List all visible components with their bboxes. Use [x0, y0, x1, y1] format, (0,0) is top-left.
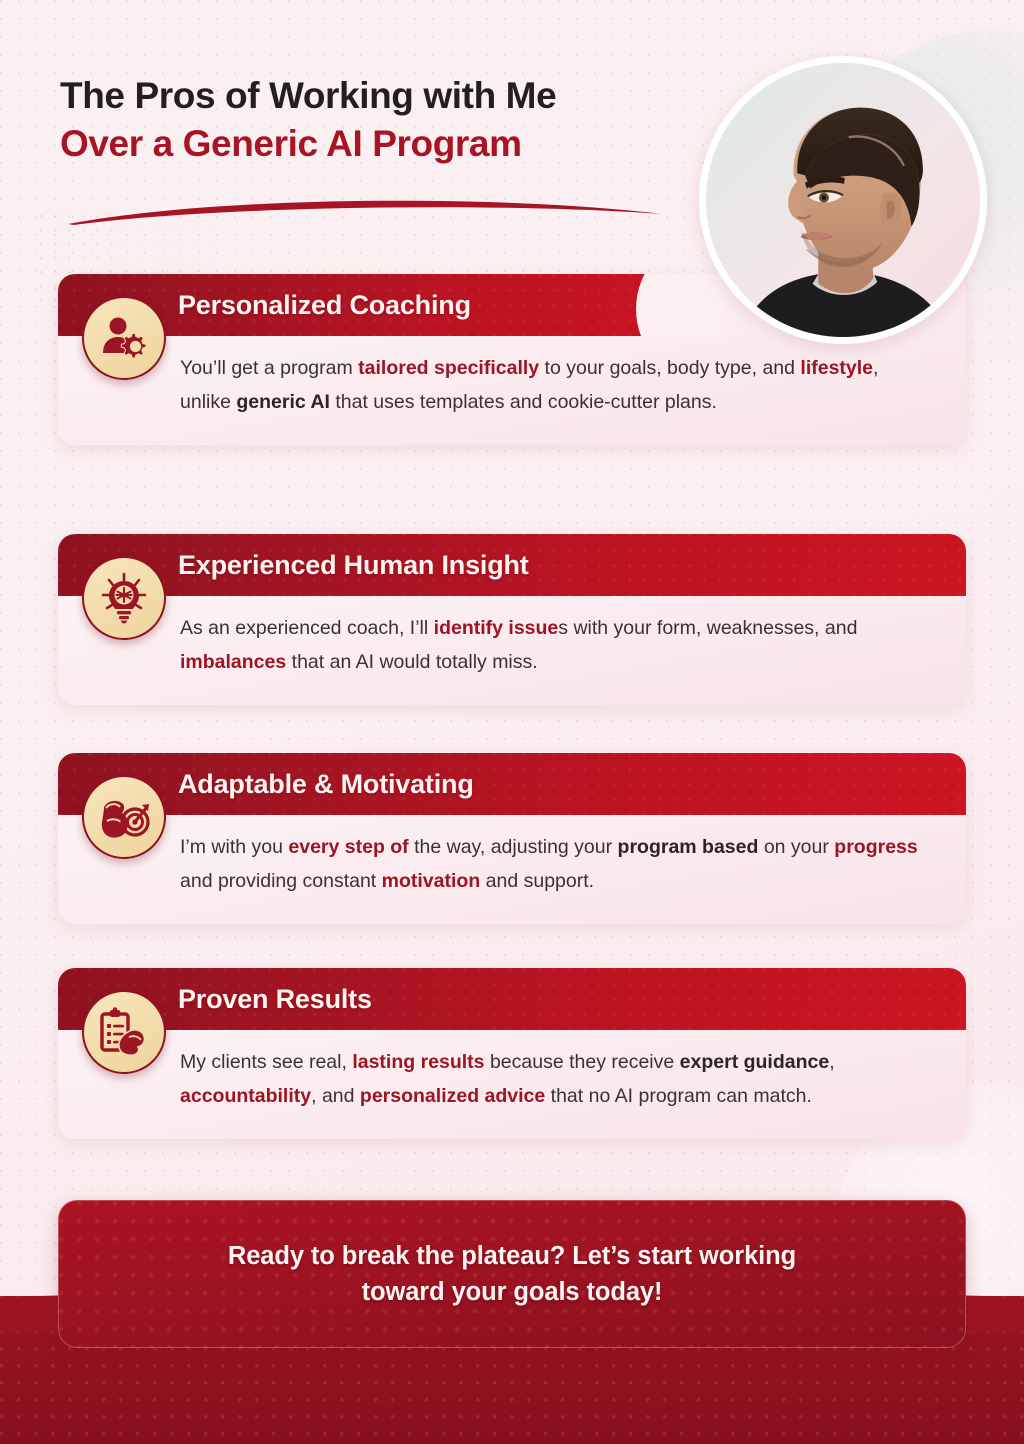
person-gear-icon: [82, 296, 166, 380]
cta-line2: toward your goals today!: [362, 1278, 663, 1306]
portrait-image: [706, 63, 980, 337]
page-title-line1: The Pros of Working with Me: [60, 74, 680, 118]
card-body: I’m with you every step of the way, adju…: [58, 815, 966, 924]
infographic-page: The Pros of Working with Me Over a Gener…: [0, 0, 1024, 1444]
card-title: Proven Results: [178, 984, 372, 1015]
page-title-line2: Over a Generic AI Program: [60, 122, 680, 166]
feature-card: Proven Results My clients see real, last…: [58, 968, 966, 1139]
lightbulb-idea-icon: [82, 556, 166, 640]
cta-line1: Ready to break the plateau? Let’s start …: [228, 1242, 796, 1270]
feature-card: Experienced Human Insight As an experien…: [58, 534, 966, 705]
card-title: Experienced Human Insight: [178, 550, 529, 581]
card-banner: Proven Results: [58, 968, 966, 1030]
card-body: You’ll get a program tailored specifical…: [58, 336, 966, 445]
card-banner: Adaptable & Motivating: [58, 753, 966, 815]
bicep-target-icon: [82, 775, 166, 859]
card-title: Personalized Coaching: [178, 290, 471, 321]
card-body: My clients see real, lasting results bec…: [58, 1030, 966, 1139]
page-header: The Pros of Working with Me Over a Gener…: [60, 74, 680, 165]
feature-card: Adaptable & Motivating I’m with you ever…: [58, 753, 966, 924]
card-title: Adaptable & Motivating: [178, 769, 474, 800]
card-banner: Experienced Human Insight: [58, 534, 966, 596]
title-underline-swoosh: [66, 192, 666, 226]
cta-text: Ready to break the plateau? Let’s start …: [168, 1238, 856, 1310]
coach-portrait: [699, 56, 987, 344]
cta-banner[interactable]: Ready to break the plateau? Let’s start …: [58, 1200, 966, 1348]
clipboard-arm-icon: [82, 990, 166, 1074]
card-body: As an experienced coach, I’ll identify i…: [58, 596, 966, 705]
